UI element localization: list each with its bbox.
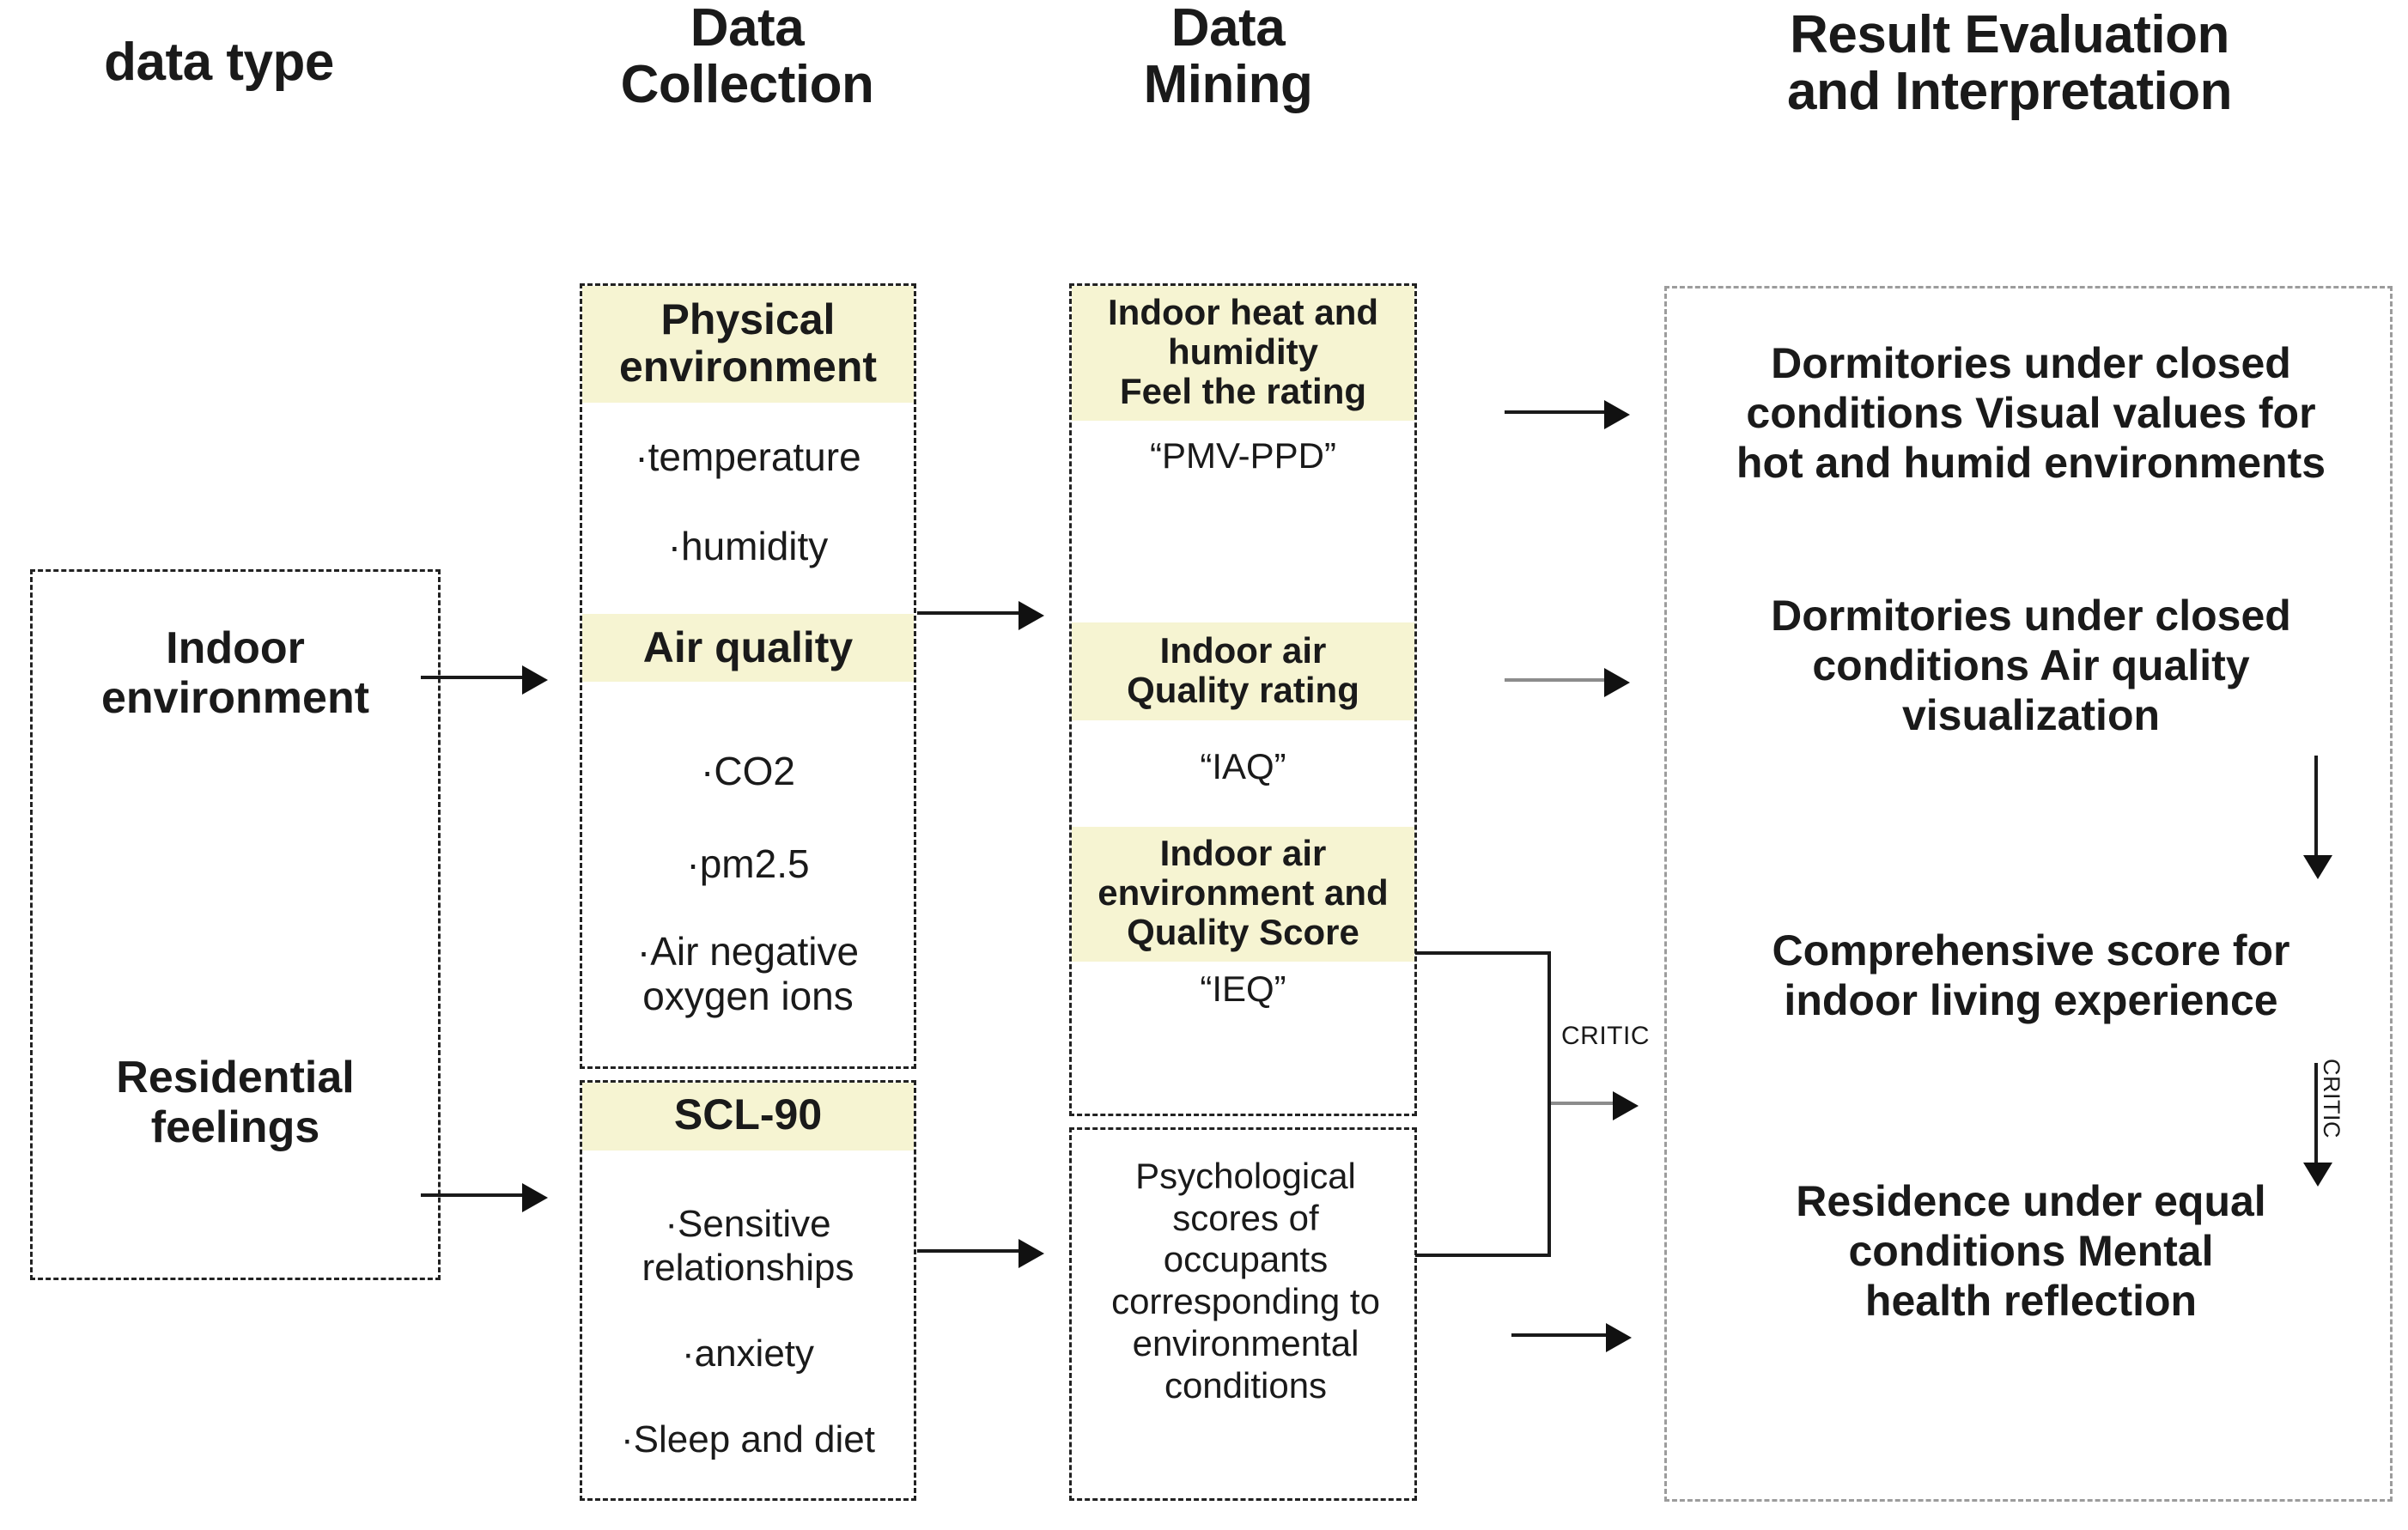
data-mining-container: Indoor heat andhumidityFeel the rating “…	[1069, 283, 1417, 1116]
mining-step-code-ieq: “IEQ”	[1072, 969, 1414, 1009]
mining-step-title-iaq: Indoor airQuality rating	[1072, 622, 1414, 720]
column-header-result-evaluation: Result Evaluationand Interpretation	[1614, 7, 2405, 119]
data-collection-physical-container: Physicalenvironment ·temperature ·humidi…	[580, 283, 916, 1069]
mining-step-title-pmv: Indoor heat andhumidityFeel the rating	[1072, 286, 1414, 421]
list-item-pm25: ·pm2.5	[582, 842, 914, 886]
arrow-indoor-env-to-physical	[421, 676, 524, 679]
data-type-item-residential-feelings: Residentialfeelings	[33, 1053, 438, 1152]
scl90-title: SCL-90	[582, 1083, 914, 1151]
physical-environment-title: Physicalenvironment	[582, 286, 914, 403]
list-item-co2: ·CO2	[582, 750, 914, 793]
result-item-mental-health-reflection: Residence under equalconditions Mentalhe…	[1679, 1176, 2383, 1326]
air-quality-title: Air quality	[582, 614, 914, 682]
mining-step-title-ieq: Indoor airenvironment andQuality Score	[1072, 827, 1414, 962]
result-evaluation-container: Dormitories under closedconditions Visua…	[1664, 286, 2393, 1502]
list-item-humidity: ·humidity	[582, 525, 914, 568]
data-collection-scl90-container: SCL-90 ·Sensitiverelationships ·anxiety …	[580, 1080, 916, 1501]
arrow-scl90-to-psychological	[917, 1249, 1020, 1253]
list-item-anxiety: ·anxiety	[582, 1333, 914, 1375]
mining-step-code-pmv: “PMV-PPD”	[1072, 436, 1414, 476]
list-item-air-negative-oxygen-ions: ·Air negativeoxygen ions	[582, 930, 914, 1018]
arrow-physical-to-mining	[917, 611, 1020, 615]
column-header-data-type: data type	[17, 34, 421, 91]
mining-step-code-iaq: “IAQ”	[1072, 747, 1414, 786]
psychological-scores-text: Psychologicalscores ofoccupantscorrespon…	[1067, 1156, 1425, 1406]
arrow-critic-to-comprehensive-score	[1551, 1102, 1614, 1105]
bracket-connector-to-comprehensive-score	[1415, 951, 1551, 1257]
critic-horizontal-label: CRITIC	[1561, 1022, 1650, 1051]
column-header-data-mining: DataMining	[1013, 0, 1443, 112]
column-header-data-collection: DataCollection	[532, 0, 962, 112]
result-item-air-quality-visualization: Dormitories under closedconditions Air q…	[1679, 591, 2383, 740]
arrow-pmv-to-result-visual-values	[1505, 410, 1606, 414]
result-item-comprehensive-score: Comprehensive score forindoor living exp…	[1679, 926, 2383, 1025]
result-item-visual-values: Dormitories under closedconditions Visua…	[1679, 338, 2383, 488]
list-item-sensitive-relationships: ·Sensitiverelationships	[582, 1203, 914, 1290]
list-item-sleep-and-diet: ·Sleep and diet	[582, 1419, 914, 1460]
arrow-residential-feelings-to-scl90	[421, 1193, 524, 1197]
data-type-item-indoor-environment: Indoorenvironment	[33, 623, 438, 723]
arrow-psychological-to-result-mental-health	[1511, 1333, 1608, 1337]
arrow-iaq-to-result-air-quality	[1505, 678, 1606, 682]
data-type-container: Indoorenvironment Residentialfeelings	[30, 569, 441, 1280]
list-item-temperature: ·temperature	[582, 435, 914, 479]
data-mining-psychological-container: Psychologicalscores ofoccupantscorrespon…	[1069, 1127, 1417, 1501]
